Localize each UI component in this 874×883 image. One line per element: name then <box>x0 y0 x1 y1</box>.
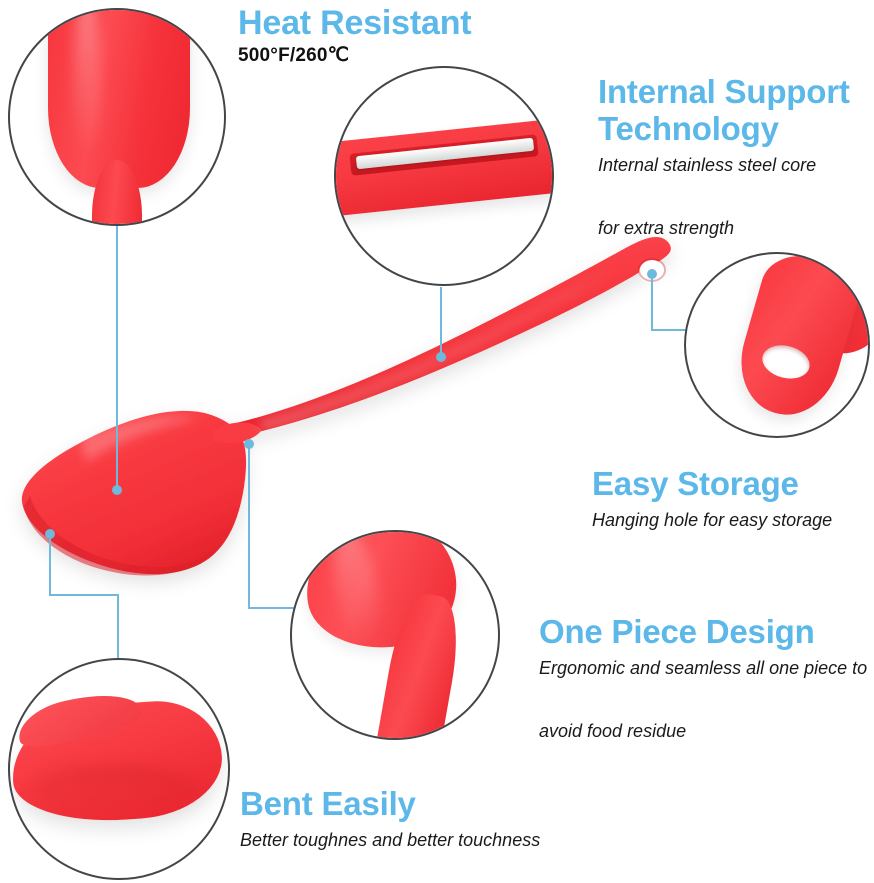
connector-dot-hole <box>647 269 657 279</box>
connector-dot-core <box>436 352 446 362</box>
blade-closeup-illustration <box>10 10 224 224</box>
feature-internal-desc: Internal stainless steel core for extra … <box>598 150 874 245</box>
one-piece-illustration <box>292 532 498 738</box>
steel-core-illustration <box>336 68 552 284</box>
feature-heat-subtitle: 500°F/260℃ <box>238 44 568 67</box>
callout-circle-one-piece <box>290 530 500 740</box>
callout-circle-blade <box>8 8 226 226</box>
connector-dot-onepiece <box>244 439 254 449</box>
feature-bent-desc: Better toughnes and better touchness <box>240 825 640 857</box>
callout-circle-steel-core <box>334 66 554 286</box>
bent-blade-illustration <box>10 660 228 878</box>
feature-one-piece-design: One Piece Design Ergonomic and seamless … <box>539 614 874 747</box>
product-feature-infographic: Heat Resistant 500°F/260℃ Internal Suppo… <box>0 0 874 883</box>
callout-circle-hanging-hole <box>684 252 870 438</box>
connector-dot-bent <box>45 529 55 539</box>
callout-circle-bent-blade <box>8 658 230 880</box>
connector-dot-blade <box>112 485 122 495</box>
feature-heat-resistant: Heat Resistant 500°F/260℃ <box>238 4 568 67</box>
feature-storage-desc: Hanging hole for easy storage <box>592 505 874 537</box>
feature-bent-easily: Bent Easily Better toughnes and better t… <box>240 786 640 856</box>
feature-heat-title: Heat Resistant <box>238 4 568 42</box>
feature-onepiece-title: One Piece Design <box>539 614 874 651</box>
feature-onepiece-desc: Ergonomic and seamless all one piece to … <box>539 653 874 748</box>
feature-internal-support: Internal Support Technology Internal sta… <box>598 74 874 244</box>
feature-internal-title: Internal Support Technology <box>598 74 874 148</box>
hanging-hole-illustration <box>686 254 868 436</box>
feature-storage-title: Easy Storage <box>592 466 874 503</box>
feature-easy-storage: Easy Storage Hanging hole for easy stora… <box>592 466 874 536</box>
connector-bent <box>50 534 118 658</box>
feature-bent-title: Bent Easily <box>240 786 640 823</box>
